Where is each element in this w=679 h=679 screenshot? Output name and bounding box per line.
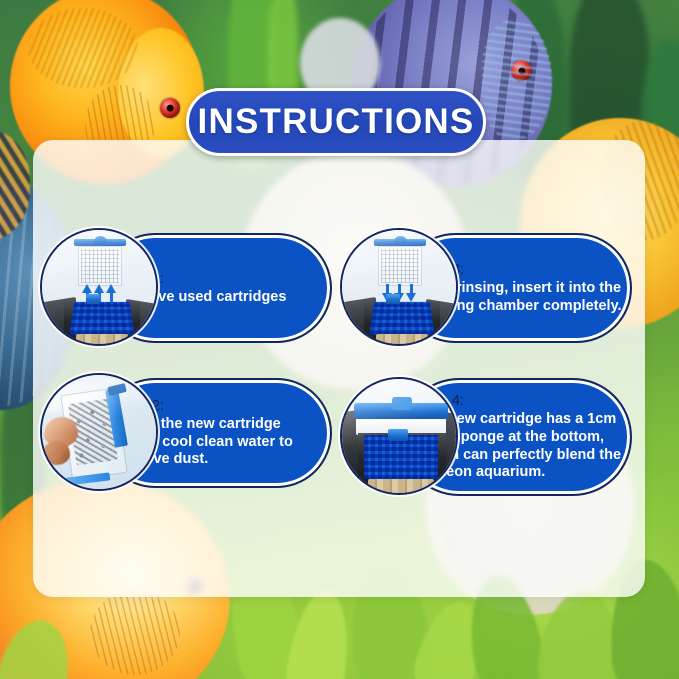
step-item-4: Step 4: The new cartridge has a 1cm long…	[340, 373, 632, 501]
filter-housing-insert-cartridge-photo	[342, 230, 456, 344]
fish-eye	[160, 98, 180, 118]
step-item-2: Step 2: Flush the new cartridge under co…	[40, 373, 332, 493]
steps-grid: Step 1: Remove used cartridges	[40, 228, 640, 498]
installed-cartridge-closeup-photo	[342, 379, 456, 493]
step-3-photo-circle	[340, 228, 458, 346]
step-4-photo-circle	[340, 377, 458, 495]
page-title: INSTRUCTIONS	[198, 102, 475, 142]
fish-face-pattern	[482, 20, 552, 140]
instructions-title-pill: INSTRUCTIONS	[186, 88, 486, 156]
step-item-3: Step 3: After rinsing, insert it into th…	[340, 228, 632, 348]
instructions-graphic: INSTRUCTIONS Step 1: Remove used cartrid…	[0, 0, 679, 679]
fish-body-texture	[28, 8, 138, 88]
step-item-1: Step 1: Remove used cartridges	[40, 228, 332, 348]
step-2-photo-circle	[40, 373, 158, 491]
hand-rinsing-cartridge-photo	[42, 375, 156, 489]
step-1-photo-circle	[40, 228, 158, 346]
filter-housing-remove-cartridge-photo	[42, 230, 156, 344]
fish-fin-rays	[90, 590, 180, 675]
